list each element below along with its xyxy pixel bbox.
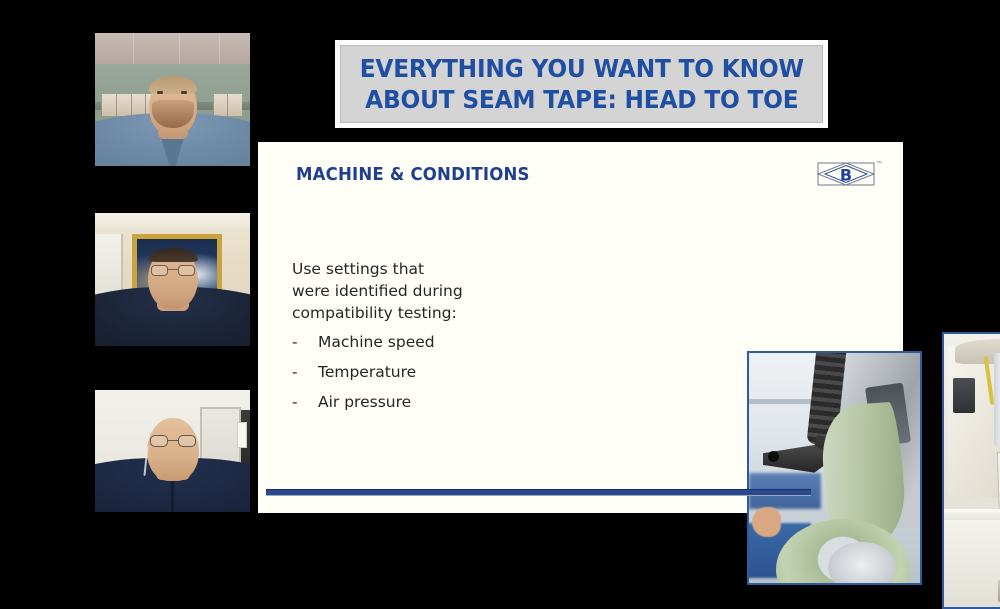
upper-arm <box>955 339 1000 364</box>
slide-body-text: Use settings that were identified during… <box>292 258 477 421</box>
pneumatic-cylinder <box>994 353 1000 446</box>
lens <box>151 265 168 276</box>
machine-head-assembly <box>948 345 1000 498</box>
trademark-symbol: ™ <box>876 161 882 167</box>
settings-bullet-list: - Machine speed - Temperature - Air pres… <box>292 331 477 413</box>
eye <box>181 91 187 94</box>
eyeglasses <box>151 265 195 276</box>
table-surface <box>944 509 1000 520</box>
slide-heading: MACHINE & CONDITIONS <box>296 164 530 185</box>
video-tile-participant-3[interactable] <box>95 390 250 512</box>
list-item: - Machine speed <box>292 331 477 353</box>
video-tile-participant-2[interactable] <box>95 213 250 346</box>
secondary-motor <box>953 378 975 413</box>
ceiling <box>95 213 250 232</box>
ceiling <box>95 33 250 64</box>
operator-hand <box>752 507 781 537</box>
list-item-label: Machine speed <box>318 331 435 353</box>
list-item: - Air pressure <box>292 391 477 413</box>
list-item-label: Temperature <box>318 361 416 383</box>
logo-svg: B <box>817 160 875 188</box>
lens <box>150 435 168 447</box>
participant-3-video <box>95 390 250 512</box>
lens <box>178 435 196 447</box>
workbench-surface <box>944 520 1000 607</box>
ceiling-seam <box>133 33 134 64</box>
wall-sign <box>237 422 247 448</box>
brand-b-diamond-logo: B ™ <box>817 160 875 188</box>
head <box>147 418 199 481</box>
ceiling-seam <box>219 33 220 64</box>
list-item: - Temperature <box>292 361 477 383</box>
bullet-dash: - <box>292 361 318 383</box>
svg-text:B: B <box>840 166 852 185</box>
shelf-item <box>227 94 242 116</box>
eyeglasses <box>150 435 196 447</box>
bridge <box>168 440 178 442</box>
nozzle-port <box>768 451 779 462</box>
participant-2-video <box>95 213 250 346</box>
shelf-item <box>101 94 116 116</box>
presentation-title: EVERYTHING YOU WANT TO KNOW ABOUT SEAM T… <box>359 53 803 116</box>
slide-divider-rule <box>266 489 811 496</box>
screen-root: EVERYTHING YOU WANT TO KNOW ABOUT SEAM T… <box>0 0 1000 545</box>
photo-machine-full <box>942 332 1000 609</box>
photo-machine-closeup <box>747 351 922 585</box>
presentation-title-banner: EVERYTHING YOU WANT TO KNOW ABOUT SEAM T… <box>335 40 828 128</box>
body-lead-text: Use settings that were identified during… <box>292 258 477 324</box>
lens <box>178 265 195 276</box>
video-tile-participant-1[interactable] <box>95 33 250 166</box>
shelf-item <box>116 94 131 116</box>
shelf-item <box>213 94 228 116</box>
bullet-dash: - <box>292 331 318 353</box>
ceiling-seam <box>179 33 180 64</box>
bullet-dash: - <box>292 391 318 413</box>
tape-roll-core <box>828 542 896 585</box>
bridge <box>168 269 178 271</box>
eye <box>157 91 163 94</box>
list-item-label: Air pressure <box>318 391 411 413</box>
participant-1-video <box>95 33 250 166</box>
